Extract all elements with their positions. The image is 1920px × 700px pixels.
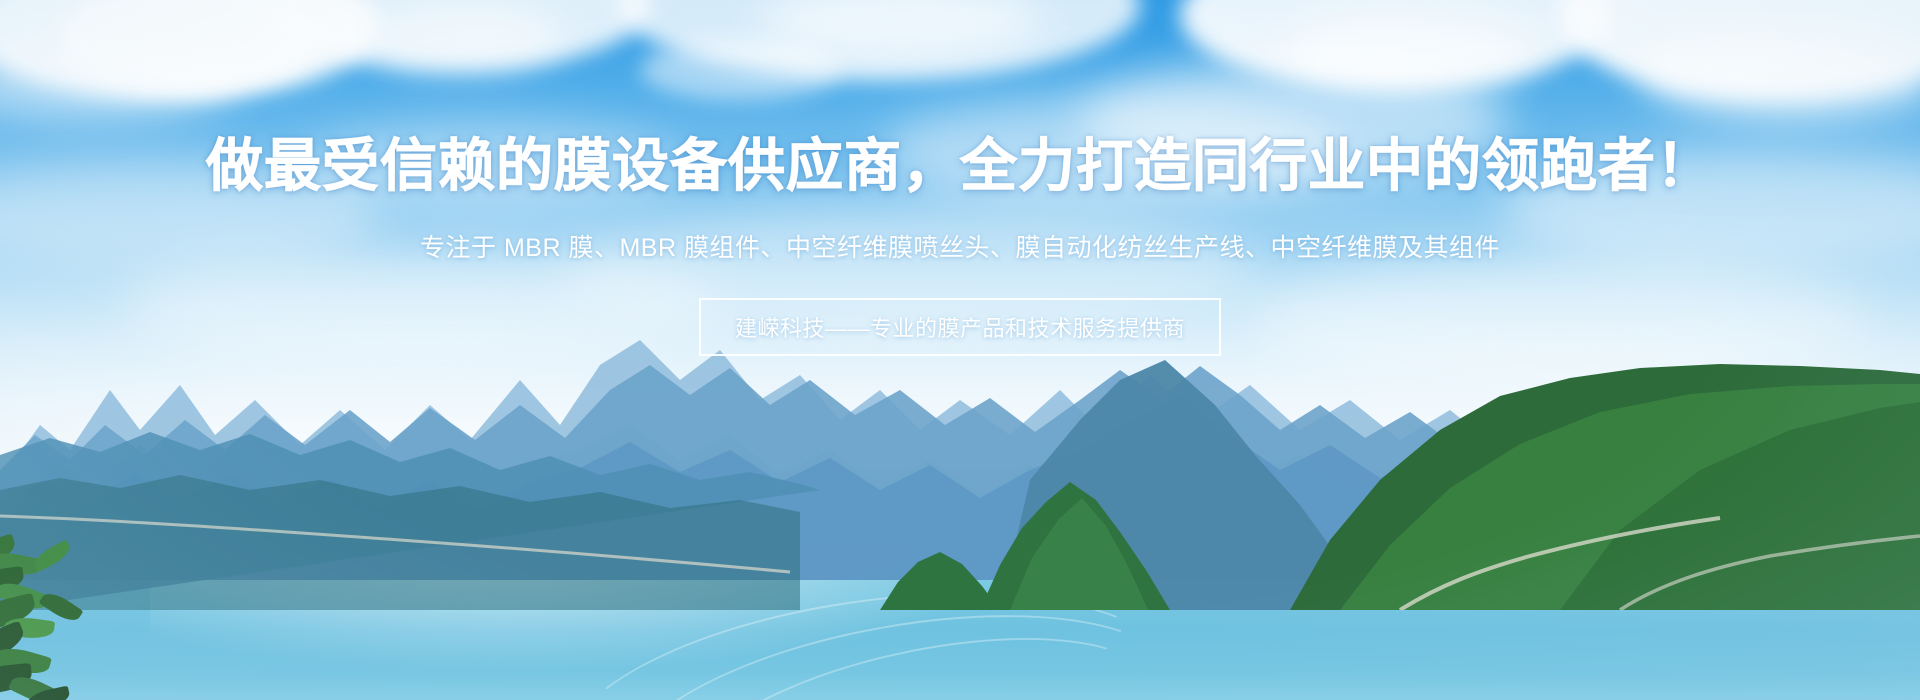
banner-content: 做最受信赖的膜设备供应商，全力打造同行业中的领跑者！ 专注于 MBR 膜、MBR… [0, 0, 1920, 700]
banner-tagline-container: 建嵘科技——专业的膜产品和技术服务提供商 [0, 298, 1920, 356]
banner-headline: 做最受信赖的膜设备供应商，全力打造同行业中的领跑者！ [0, 120, 1920, 202]
banner-subtitle: 专注于 MBR 膜、MBR 膜组件、中空纤维膜喷丝头、膜自动化纺丝生产线、中空纤… [0, 228, 1920, 264]
hero-banner: 做最受信赖的膜设备供应商，全力打造同行业中的领跑者！ 专注于 MBR 膜、MBR… [0, 0, 1920, 700]
banner-tagline: 建嵘科技——专业的膜产品和技术服务提供商 [699, 298, 1221, 356]
